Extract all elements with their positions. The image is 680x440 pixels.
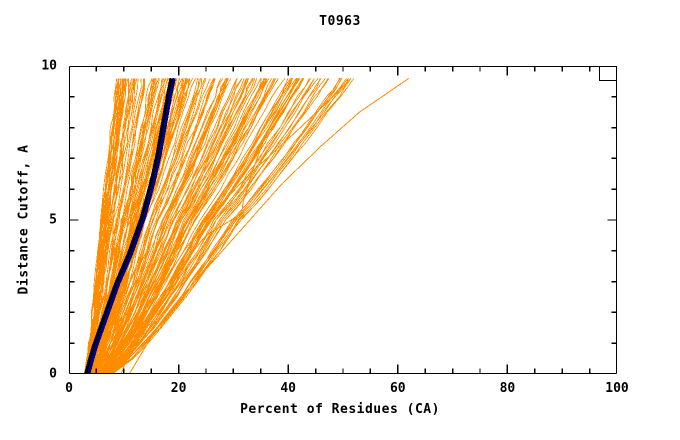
prediction-curve xyxy=(103,78,276,374)
chart-figure: T0963 020406080100 0510 Percent of Resid… xyxy=(0,0,680,440)
plot-area xyxy=(69,66,617,374)
x-axis-label: Percent of Residues (CA) xyxy=(0,402,680,417)
prediction-curves-bundle xyxy=(84,78,409,374)
y-tick-label: 5 xyxy=(49,213,57,228)
axis-frame xyxy=(70,67,617,374)
y-tick-label: 0 xyxy=(49,367,57,382)
y-axis-label: Distance Cutoff, A xyxy=(17,110,32,330)
x-tick-label: 0 xyxy=(65,381,73,396)
x-tick-label: 60 xyxy=(390,381,406,396)
x-tick-label: 40 xyxy=(280,381,296,396)
corner-marker xyxy=(600,67,617,81)
plot-canvas xyxy=(69,66,617,374)
x-tick-label: 80 xyxy=(500,381,516,396)
page-title: T0963 xyxy=(0,14,680,29)
y-tick-label: 10 xyxy=(41,59,57,74)
x-tick-label: 100 xyxy=(605,381,628,396)
x-tick-label: 20 xyxy=(171,381,187,396)
